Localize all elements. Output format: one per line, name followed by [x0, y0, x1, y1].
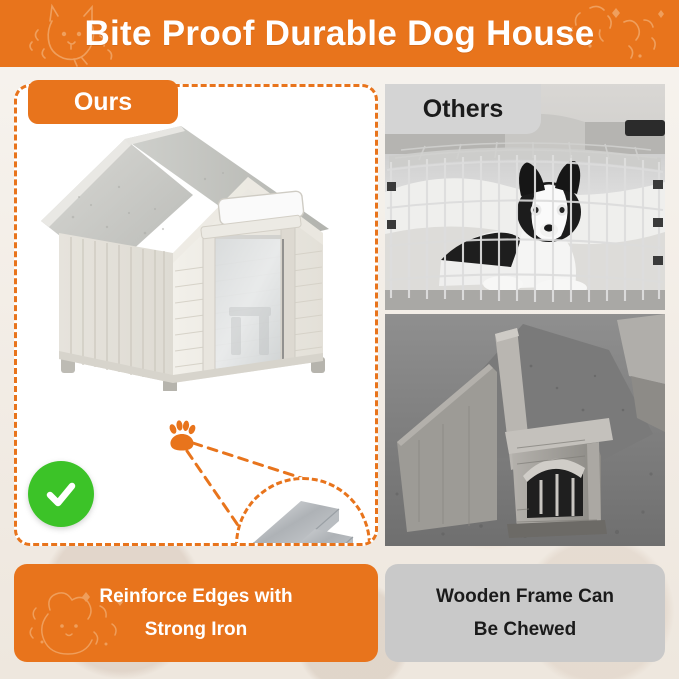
paw-print-icon [165, 419, 199, 453]
badge-ours: Ours [28, 80, 178, 124]
badge-others: Others [385, 84, 541, 134]
iron-angle-brackets-image [243, 485, 363, 546]
product-image-doghouse [33, 121, 369, 391]
caption-others: Wooden Frame Can Be Chewed [385, 564, 665, 662]
photo-dog-in-crate: Others [385, 84, 665, 310]
caption-ours: Reinforce Edges with Strong Iron [14, 564, 378, 662]
photo-wooden-doghouse [385, 314, 665, 546]
page-title: Bite Proof Durable Dog House [0, 14, 679, 54]
check-icon [28, 461, 94, 527]
others-panel: Others [385, 84, 665, 546]
caption-others-line-1: Wooden Frame Can [436, 580, 614, 613]
caption-ours-line-1: Reinforce Edges with [99, 580, 292, 613]
caption-others-line-2: Be Chewed [474, 613, 576, 646]
infographic-page: Bite Proof Durable Dog House [0, 0, 679, 679]
caption-ours-line-2: Strong Iron [145, 613, 247, 646]
header-banner: Bite Proof Durable Dog House [0, 0, 679, 67]
